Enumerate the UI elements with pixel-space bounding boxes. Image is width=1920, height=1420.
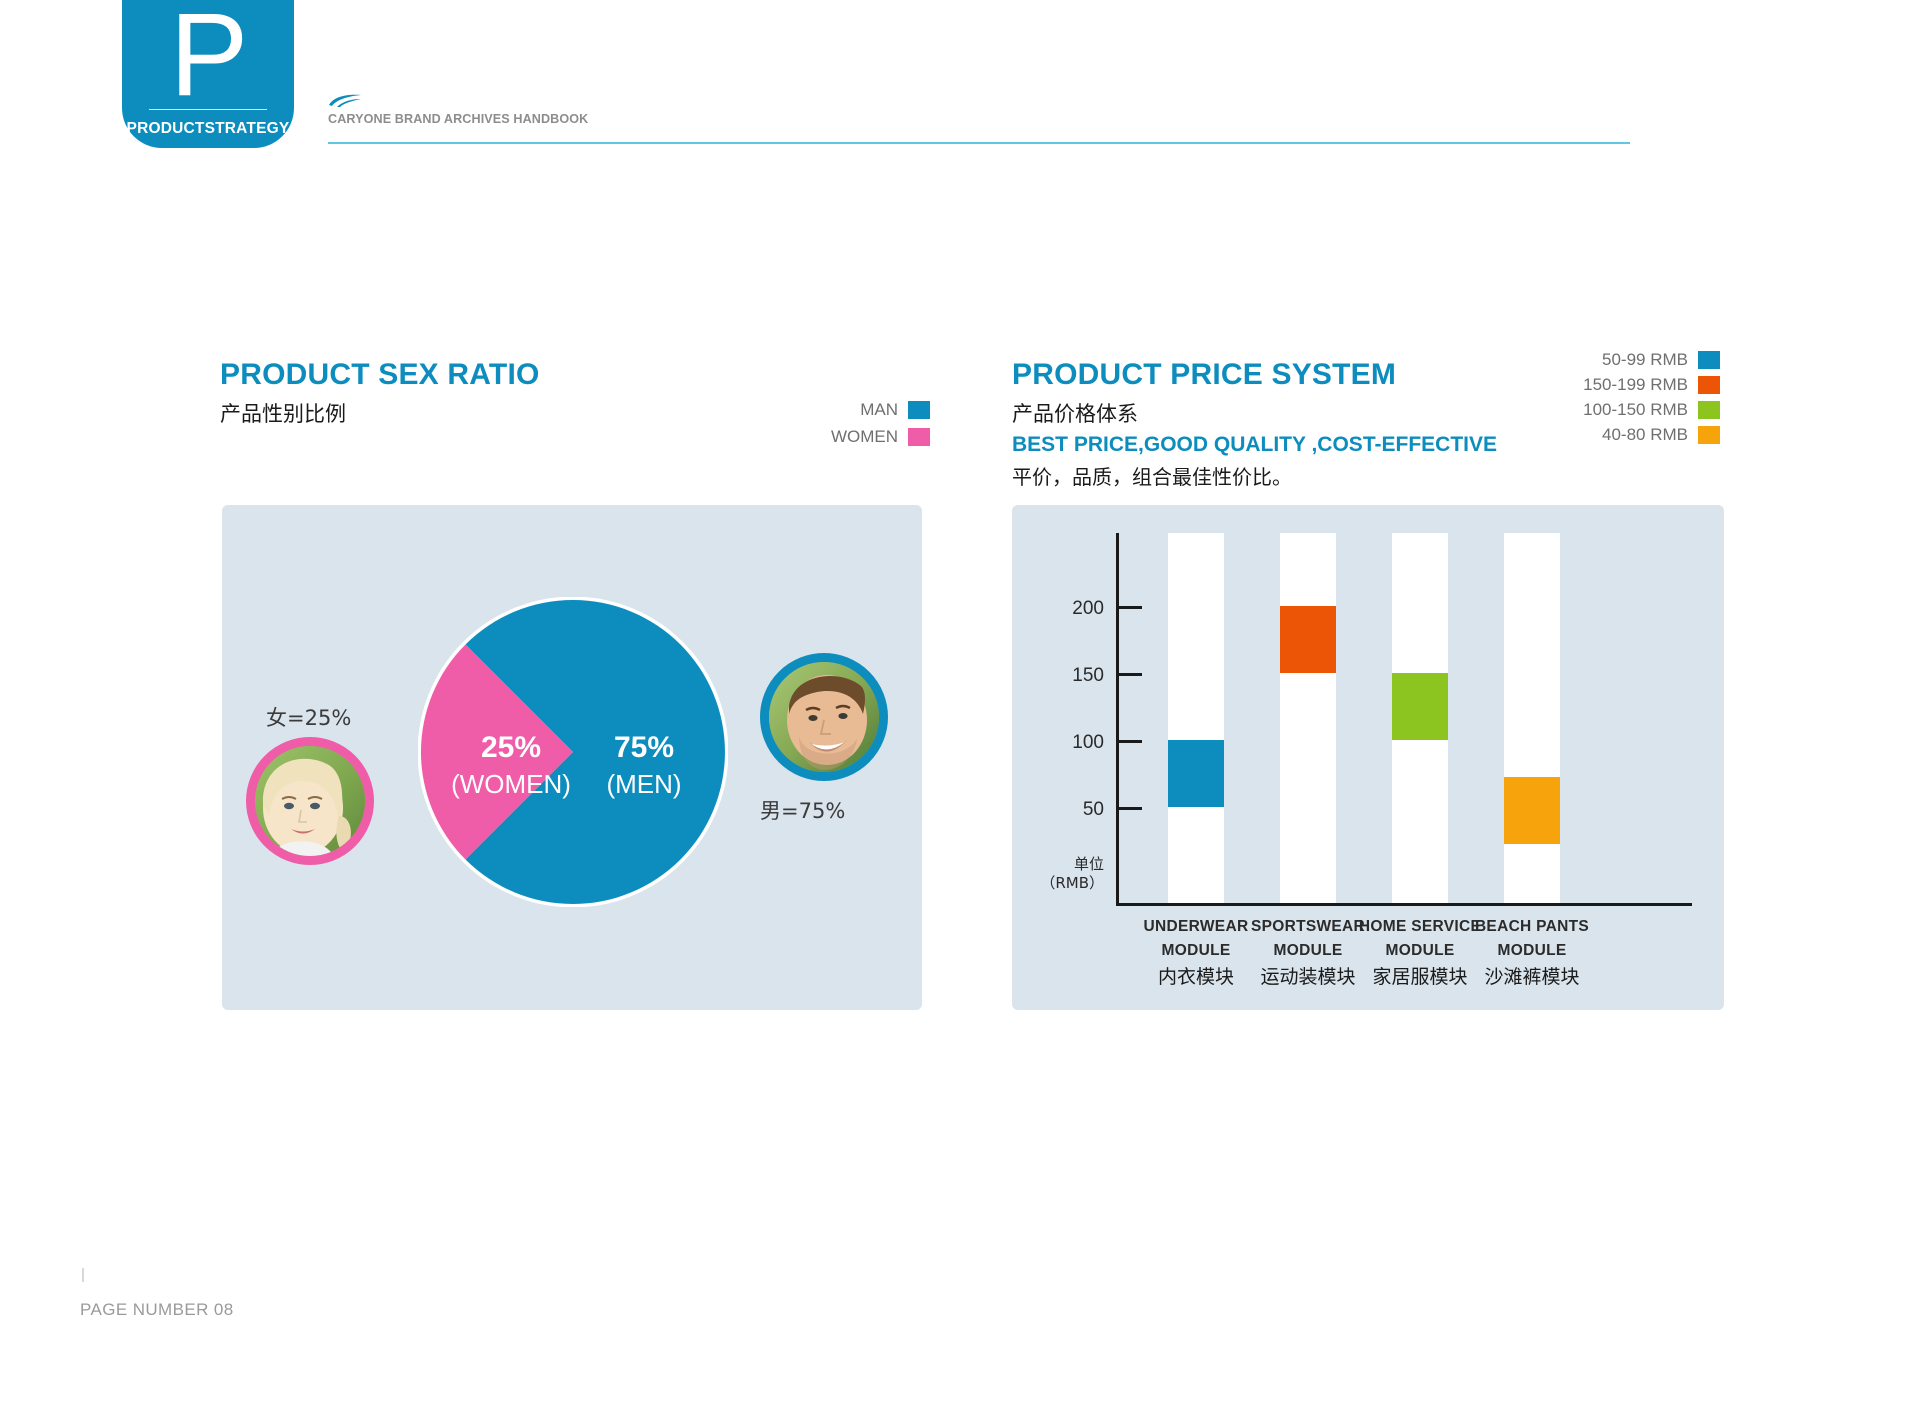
- ytick-label-150: 150: [1026, 665, 1104, 687]
- legend-item-man[interactable]: MAN: [831, 400, 930, 420]
- legend-item-50-99[interactable]: 50-99 RMB: [1480, 350, 1720, 370]
- female-caption: 女=25%: [266, 702, 351, 732]
- ytick-mark-50: [1116, 807, 1142, 810]
- column-track-underwear: [1168, 533, 1224, 903]
- legend-item-150-199[interactable]: 150-199 RMB: [1480, 375, 1720, 395]
- legend-label-man: MAN: [860, 400, 898, 420]
- ytick-label-100: 100: [1026, 732, 1104, 754]
- male-caption: 男=75%: [760, 795, 845, 825]
- brand-line: CARYONE BRAND ARCHIVES HANDBOOK: [328, 112, 588, 126]
- legend-swatch-women: [908, 428, 930, 446]
- price-system-legend: 50-99 RMB 150-199 RMB 100-150 RMB 40-80 …: [1480, 350, 1720, 450]
- y-axis-unit-label: 单位（RMB）: [1018, 855, 1104, 893]
- product-strategy-badge: P PRODUCTSTRATEGY: [122, 0, 294, 148]
- y-axis-line: [1116, 533, 1119, 905]
- legend-label-women: WOMEN: [831, 427, 898, 447]
- ytick-mark-100: [1116, 740, 1142, 743]
- svg-text:75%: 75%: [614, 731, 674, 764]
- legend-label-40-80: 40-80 RMB: [1602, 425, 1688, 445]
- category-en2-beach-pants: MODULE: [1498, 942, 1567, 959]
- category-en2-home-service: MODULE: [1386, 942, 1455, 959]
- category-label-beach-pants: BEACH PANTS MODULE 沙滩裤模块: [1458, 915, 1606, 992]
- category-en2-underwear: MODULE: [1162, 942, 1231, 959]
- bar-segment-beach-pants[interactable]: [1504, 777, 1560, 844]
- price-system-subtitle-cn: 平价，品质，组合最佳性价比。: [1012, 461, 1752, 490]
- female-portrait-image: [255, 746, 365, 856]
- category-cn-home-service: 家居服模块: [1372, 966, 1467, 988]
- footer-tick-mark: [82, 1268, 84, 1282]
- sex-ratio-legend: MAN WOMEN: [831, 400, 930, 454]
- category-en1-beach-pants: BEACH PANTS: [1475, 918, 1589, 935]
- category-cn-underwear: 内衣模块: [1158, 966, 1234, 988]
- header-divider: [328, 142, 1630, 144]
- legend-swatch-100-150: [1698, 401, 1720, 419]
- column-track-sportswear: [1280, 533, 1336, 903]
- ytick-mark-200: [1116, 606, 1142, 609]
- x-axis-line: [1116, 903, 1692, 906]
- ytick-label-200: 200: [1026, 598, 1104, 620]
- legend-swatch-40-80: [1698, 426, 1720, 444]
- sex-ratio-panel: 女=25%: [222, 505, 922, 1010]
- category-en1-underwear: UNDERWEAR: [1144, 918, 1249, 935]
- legend-label-100-150: 100-150 RMB: [1583, 400, 1688, 420]
- badge-label: PRODUCTSTRATEGY: [127, 120, 290, 138]
- legend-label-50-99: 50-99 RMB: [1602, 350, 1688, 370]
- sex-ratio-heading-block: PRODUCT SEX RATIO 产品性别比例 MAN WOMEN: [220, 358, 940, 428]
- badge-divider: [149, 109, 267, 110]
- female-avatar: [246, 737, 374, 865]
- legend-item-women[interactable]: WOMEN: [831, 427, 930, 447]
- svg-text:(WOMEN): (WOMEN): [451, 769, 571, 799]
- legend-item-40-80[interactable]: 40-80 RMB: [1480, 425, 1720, 445]
- column-track-beach-pants: [1504, 533, 1560, 903]
- legend-swatch-man: [908, 401, 930, 419]
- page-number: PAGE NUMBER 08: [80, 1300, 234, 1320]
- sex-ratio-pie-chart: 75% (MEN) 25% (WOMEN): [418, 597, 728, 907]
- bar-segment-sportswear[interactable]: [1280, 606, 1336, 673]
- svg-text:(MEN): (MEN): [606, 769, 681, 799]
- badge-letter: P: [122, 0, 294, 114]
- ytick-label-50: 50: [1026, 799, 1104, 821]
- male-portrait-image: [769, 662, 879, 772]
- category-cn-beach-pants: 沙滩裤模块: [1484, 966, 1579, 988]
- svg-text:25%: 25%: [481, 731, 541, 764]
- male-avatar: [760, 653, 888, 781]
- legend-swatch-150-199: [1698, 376, 1720, 394]
- wave-swoosh-icon: [328, 94, 362, 108]
- legend-swatch-50-99: [1698, 351, 1720, 369]
- category-cn-sportswear: 运动装模块: [1260, 966, 1355, 988]
- bar-segment-home-service[interactable]: [1392, 673, 1448, 740]
- legend-label-150-199: 150-199 RMB: [1583, 375, 1688, 395]
- price-system-panel: 200 150 100 50 单位（RMB） UNDERWEAR MODULE …: [1012, 505, 1724, 1010]
- category-en2-sportswear: MODULE: [1274, 942, 1343, 959]
- page-root: P PRODUCTSTRATEGY CARYONE BRAND ARCHIVES…: [0, 0, 1920, 1420]
- brand-title: CARYONE BRAND ARCHIVES HANDBOOK: [328, 112, 588, 126]
- legend-item-100-150[interactable]: 100-150 RMB: [1480, 400, 1720, 420]
- bar-segment-underwear[interactable]: [1168, 740, 1224, 807]
- ytick-mark-150: [1116, 673, 1142, 676]
- sex-ratio-title-en: PRODUCT SEX RATIO: [220, 358, 940, 392]
